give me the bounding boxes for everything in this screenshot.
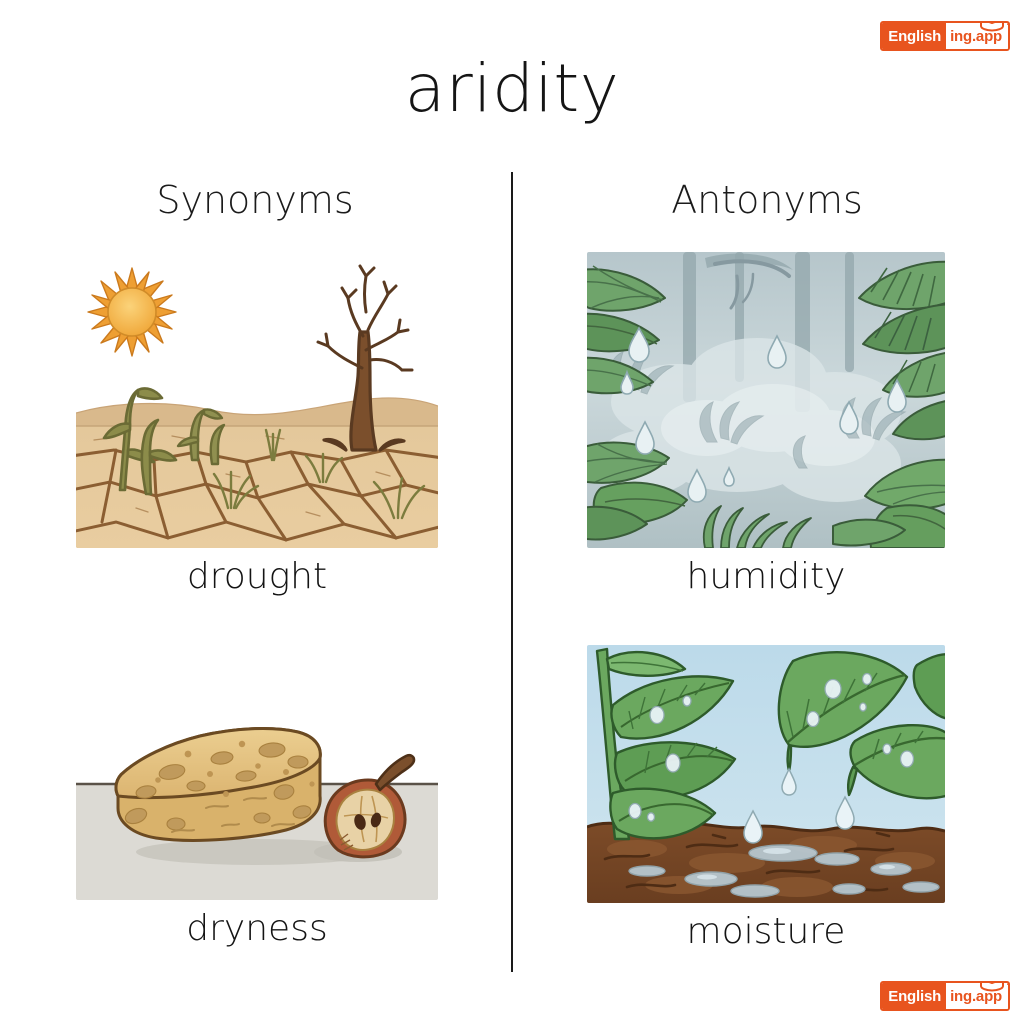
illustration-humidity bbox=[587, 252, 945, 548]
card-caption-humidity: humidity bbox=[587, 556, 945, 597]
card-caption-moisture: moisture bbox=[587, 911, 945, 952]
logo-text-english: English bbox=[882, 23, 946, 49]
brand-logo-top[interactable]: English ing.app bbox=[880, 22, 1010, 50]
card-moisture[interactable]: moisture bbox=[587, 645, 945, 952]
column-heading-antonyms: Antonyms bbox=[532, 178, 1002, 222]
column-divider bbox=[511, 172, 513, 972]
illustration-drought bbox=[76, 250, 438, 548]
card-drought[interactable]: drought bbox=[76, 250, 438, 597]
vocabulary-card-page: English ing.app aridity Synonyms Antonym… bbox=[0, 0, 1024, 1024]
brand-logo-bottom[interactable]: English ing.app bbox=[880, 982, 1010, 1010]
card-humidity[interactable]: humidity bbox=[587, 252, 945, 597]
illustration-moisture bbox=[587, 645, 945, 903]
logo-box-bottom: English ing.app bbox=[880, 981, 1010, 1011]
page-title: aridity bbox=[0, 50, 1024, 127]
column-heading-synonyms: Synonyms bbox=[20, 178, 490, 222]
card-caption-dryness: dryness bbox=[76, 908, 438, 949]
graduation-cap-icon-bottom bbox=[972, 981, 1010, 994]
illustration-dryness bbox=[76, 700, 438, 900]
logo-box: English ing.app bbox=[880, 21, 1010, 51]
graduation-cap-icon bbox=[972, 21, 1010, 34]
card-dryness[interactable]: dryness bbox=[76, 700, 438, 949]
logo-text-english-bottom: English bbox=[882, 983, 946, 1009]
card-caption-drought: drought bbox=[76, 556, 438, 597]
